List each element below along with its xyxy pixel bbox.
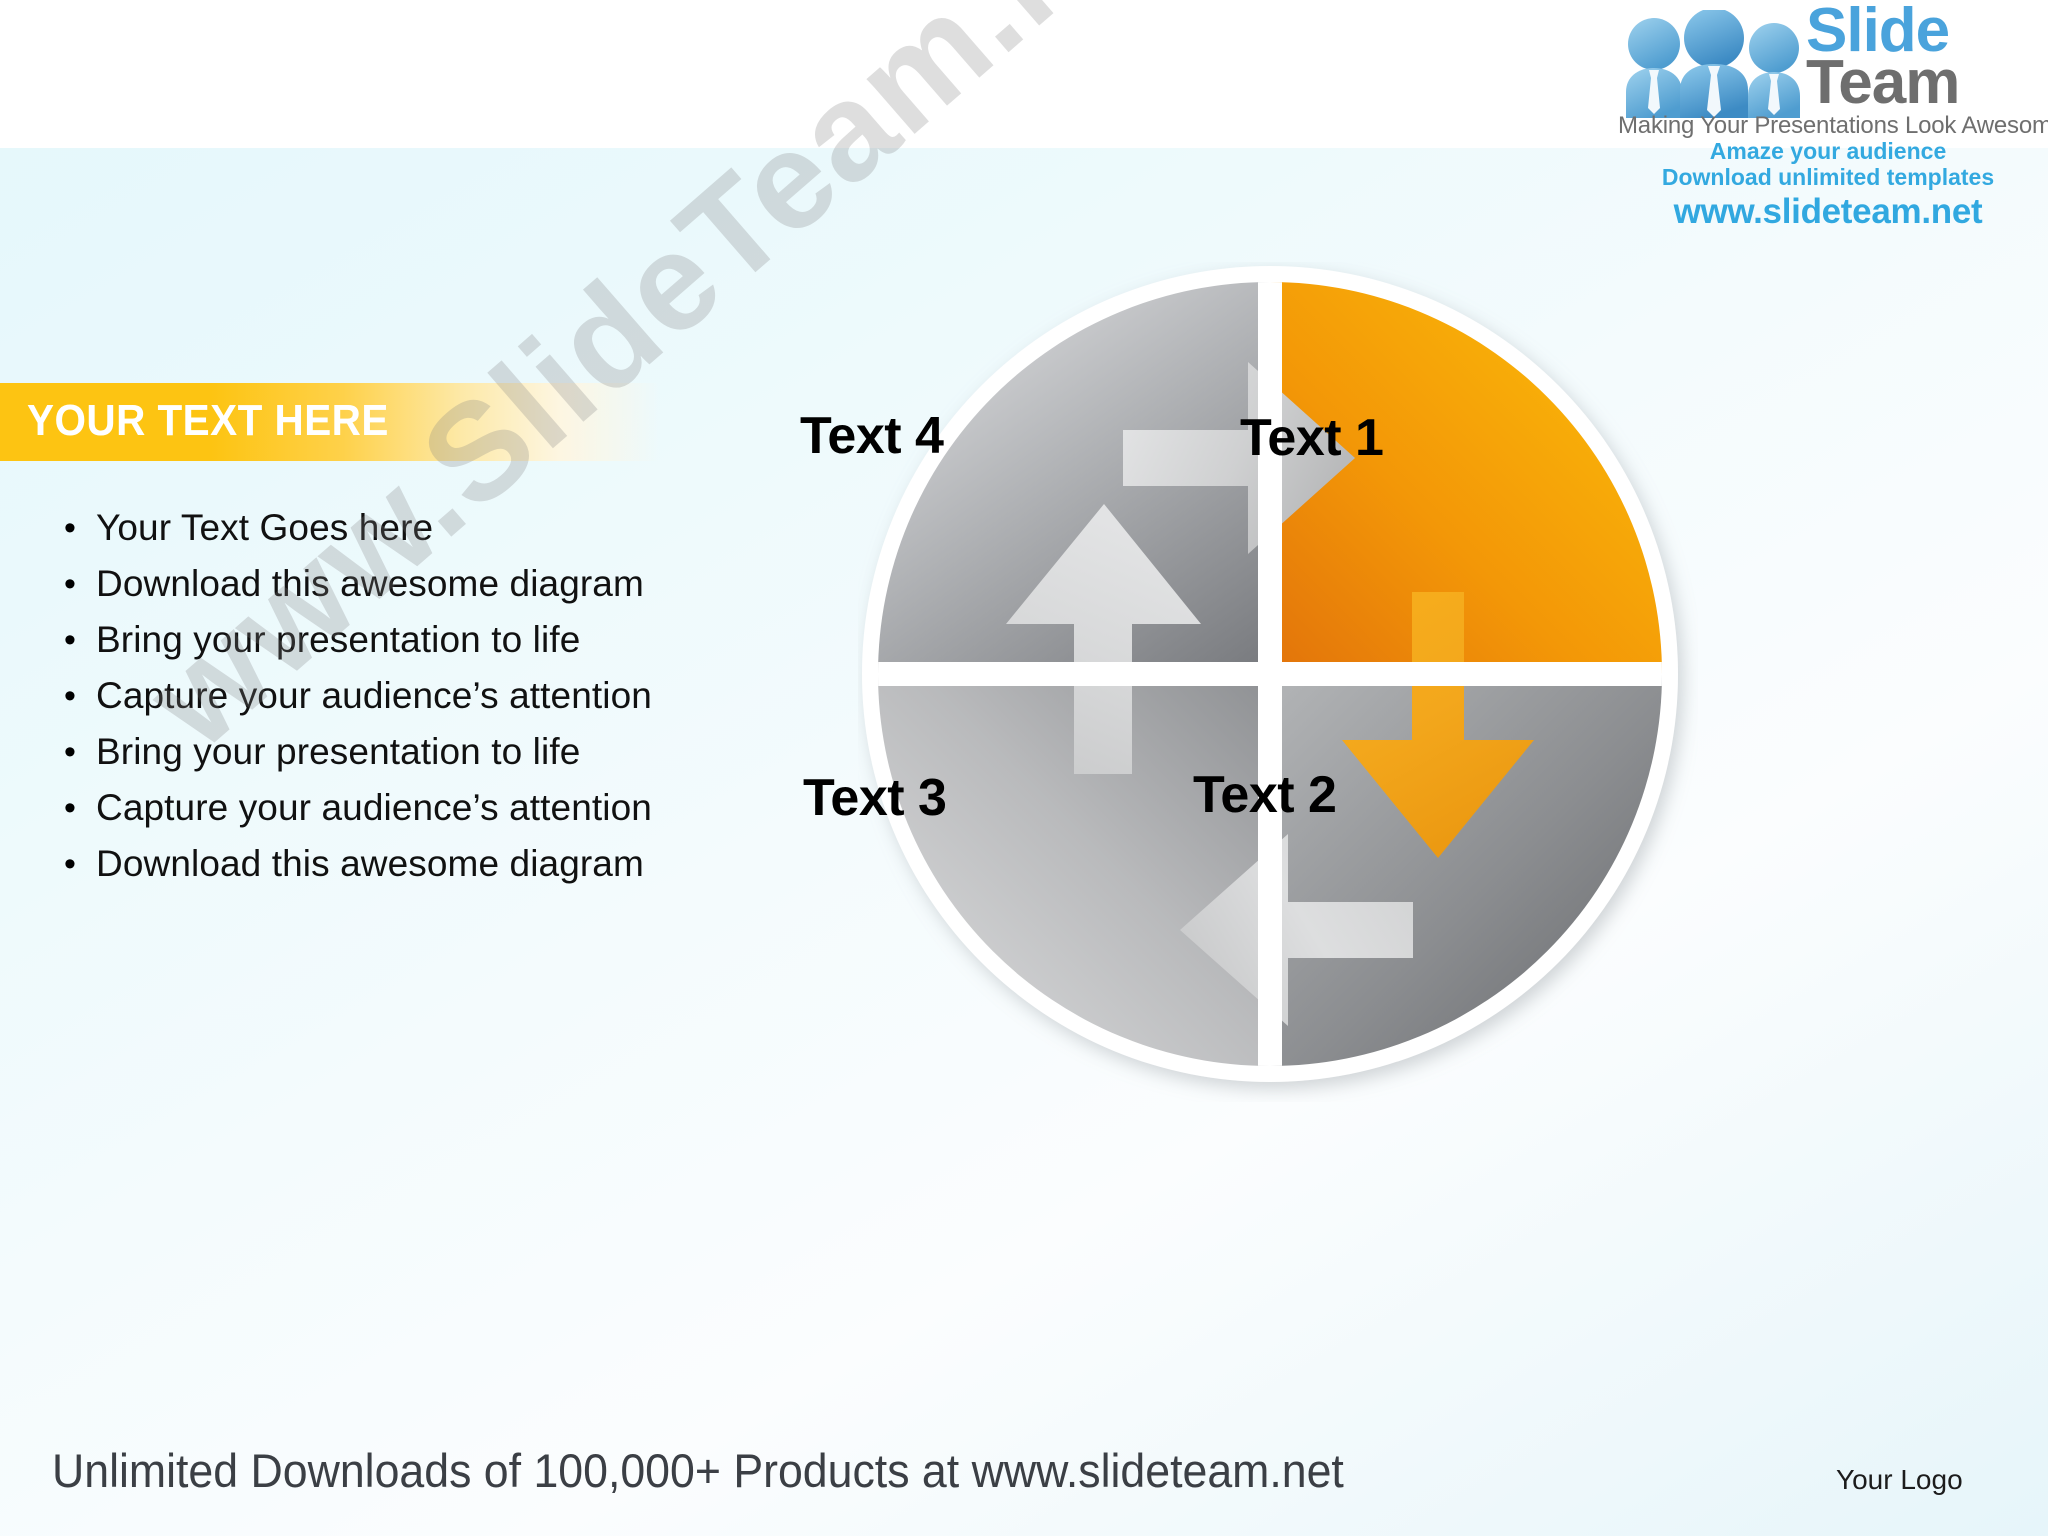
bullet-marker-icon: • bbox=[40, 500, 96, 556]
list-item-label: Download this awesome diagram bbox=[96, 556, 660, 612]
quadrant-label-text1: Text 1 bbox=[1240, 408, 1383, 468]
logo-promo-line2: Download unlimited templates bbox=[1618, 164, 2038, 190]
slide-canvas: Text 1 Text 2 Text 3 Text 4 YOUR TEXT HE… bbox=[0, 0, 2048, 1536]
slideteam-logo[interactable]: Slide Team Making Your Presentations Loo… bbox=[1618, 2, 2038, 272]
list-item: • Capture your audience’s attention bbox=[40, 668, 660, 724]
list-item: • Bring your presentation to life bbox=[40, 724, 660, 780]
logo-url[interactable]: www.slideteam.net bbox=[1618, 192, 2038, 232]
four-quadrant-arrows-diagram[interactable] bbox=[858, 262, 1698, 1102]
banner-label: YOUR TEXT HERE bbox=[27, 396, 389, 446]
bullet-list: • Your Text Goes here • Download this aw… bbox=[40, 500, 660, 892]
list-item-label: Bring your presentation to life bbox=[96, 724, 660, 780]
logo-team-text: Team bbox=[1806, 52, 1959, 114]
footer-promo-text: Unlimited Downloads of 100,000+ Products… bbox=[52, 1443, 1344, 1498]
quadrant-label-text4: Text 4 bbox=[800, 406, 943, 466]
list-item-label: Capture your audience’s attention bbox=[96, 668, 660, 724]
list-item-label: Your Text Goes here bbox=[96, 500, 660, 556]
logo-promo: Amaze your audience Download unlimited t… bbox=[1618, 138, 2038, 190]
list-item-label: Capture your audience’s attention bbox=[96, 780, 660, 836]
logo-wordmark: Slide Team bbox=[1806, 4, 2036, 124]
list-item: • Bring your presentation to life bbox=[40, 612, 660, 668]
quadrant-text2 bbox=[1270, 674, 1662, 1066]
logo-promo-line1: Amaze your audience bbox=[1618, 138, 2038, 164]
list-item-label: Bring your presentation to life bbox=[96, 612, 660, 668]
bullet-marker-icon: • bbox=[40, 556, 96, 612]
logo-tagline: Making Your Presentations Look Awesome bbox=[1618, 112, 2038, 140]
bullet-marker-icon: • bbox=[40, 836, 96, 892]
bullet-marker-icon: • bbox=[40, 724, 96, 780]
list-item: • Download this awesome diagram bbox=[40, 836, 660, 892]
list-item: • Capture your audience’s attention bbox=[40, 780, 660, 836]
your-text-here-banner: YOUR TEXT HERE bbox=[0, 383, 660, 461]
list-item: • Download this awesome diagram bbox=[40, 556, 660, 612]
bullet-marker-icon: • bbox=[40, 612, 96, 668]
quadrant-label-text2: Text 2 bbox=[1193, 765, 1336, 825]
your-logo-placeholder: Your Logo bbox=[1836, 1464, 1963, 1496]
divider-horizontal bbox=[872, 662, 1668, 686]
three-people-group-icon bbox=[1622, 10, 1812, 118]
bullet-marker-icon: • bbox=[40, 780, 96, 836]
quadrant-label-text3: Text 3 bbox=[803, 768, 946, 828]
list-item-label: Download this awesome diagram bbox=[96, 836, 660, 892]
list-item: • Your Text Goes here bbox=[40, 500, 660, 556]
bullet-marker-icon: • bbox=[40, 668, 96, 724]
